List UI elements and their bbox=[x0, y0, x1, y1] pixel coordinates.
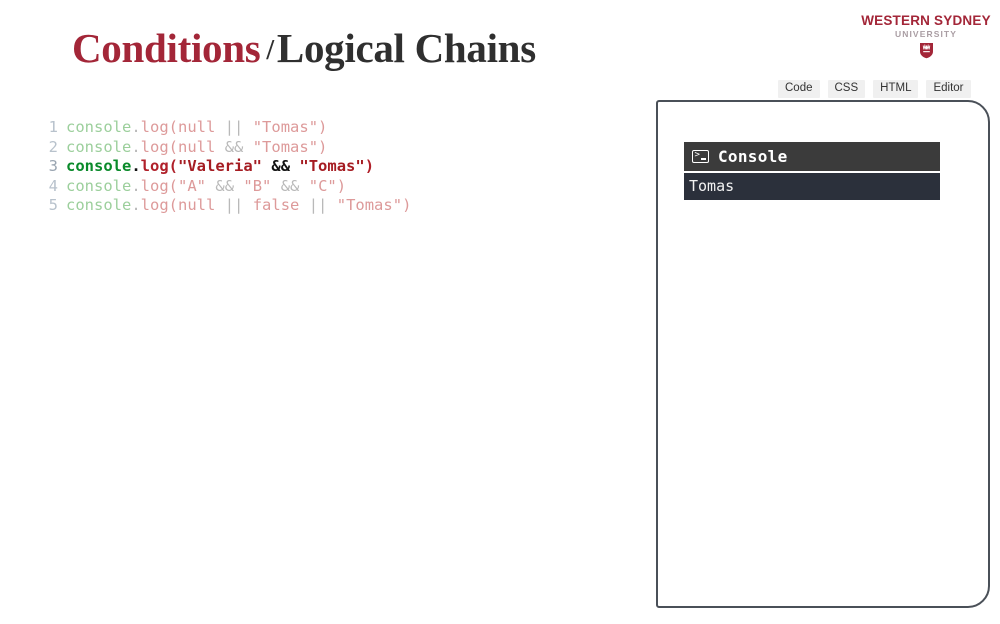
code-token: ) bbox=[402, 196, 411, 214]
code-token: "B" bbox=[243, 177, 271, 195]
tab-code[interactable]: Code bbox=[778, 80, 820, 98]
tab-css[interactable]: CSS bbox=[828, 80, 866, 98]
preview-tab-bar: Code CSS HTML Editor bbox=[778, 80, 971, 98]
code-line: 3console.log("Valeria" && "Tomas") bbox=[48, 157, 411, 177]
code-token: console bbox=[66, 118, 131, 136]
code-token bbox=[215, 196, 224, 214]
code-token bbox=[234, 177, 243, 195]
code-token: "Tomas" bbox=[337, 196, 402, 214]
code-token: ) bbox=[337, 177, 346, 195]
code-token bbox=[290, 157, 299, 175]
code-token: "C" bbox=[309, 177, 337, 195]
page-title-primary: Conditions bbox=[72, 25, 260, 71]
code-token bbox=[327, 196, 336, 214]
code-token: log bbox=[141, 177, 169, 195]
code-token: console bbox=[66, 196, 131, 214]
code-line-number: 3 bbox=[48, 157, 58, 177]
code-token: || bbox=[225, 196, 244, 214]
preview-panel: Console Tomas bbox=[656, 100, 990, 608]
code-token bbox=[299, 196, 308, 214]
code-token: log bbox=[141, 118, 169, 136]
code-token: ( bbox=[169, 138, 178, 156]
code-token bbox=[215, 138, 224, 156]
code-line: 5console.log(null || false || "Tomas") bbox=[48, 196, 411, 216]
code-token: "Valeria" bbox=[178, 157, 262, 175]
code-token: ) bbox=[318, 118, 327, 136]
code-line: 1console.log(null || "Tomas") bbox=[48, 118, 411, 138]
university-logo: WESTERN SYDNEY UNIVERSITY bbox=[860, 14, 992, 63]
code-token bbox=[262, 157, 271, 175]
terminal-icon bbox=[692, 150, 709, 163]
tab-editor[interactable]: Editor bbox=[926, 80, 970, 98]
code-token bbox=[271, 177, 280, 195]
console-header-label: Console bbox=[718, 147, 788, 166]
code-token: "Tomas" bbox=[253, 138, 318, 156]
code-line-number: 5 bbox=[48, 196, 58, 216]
code-line: 4console.log("A" && "B" && "C") bbox=[48, 177, 411, 197]
shield-crest-icon bbox=[919, 42, 934, 63]
code-token: "Tomas" bbox=[253, 118, 318, 136]
code-token: ( bbox=[169, 196, 178, 214]
code-line: 2console.log(null && "Tomas") bbox=[48, 138, 411, 158]
code-token bbox=[243, 138, 252, 156]
code-token: "A" bbox=[178, 177, 206, 195]
code-token: && bbox=[215, 177, 234, 195]
code-line-number: 2 bbox=[48, 138, 58, 158]
code-token: ( bbox=[169, 118, 178, 136]
code-token: && bbox=[271, 157, 290, 175]
code-token bbox=[299, 177, 308, 195]
page-title-secondary: Logical Chains bbox=[277, 25, 536, 71]
code-token: . bbox=[131, 157, 140, 175]
code-token: . bbox=[131, 177, 140, 195]
console-output-row: Tomas bbox=[684, 173, 940, 200]
console-header: Console bbox=[684, 142, 940, 171]
code-token: console bbox=[66, 177, 131, 195]
code-line-number: 1 bbox=[48, 118, 58, 138]
code-listing: 1console.log(null || "Tomas")2console.lo… bbox=[48, 118, 411, 216]
code-token: "Tomas" bbox=[299, 157, 364, 175]
code-token: null bbox=[178, 118, 215, 136]
code-token: . bbox=[131, 138, 140, 156]
code-token: ( bbox=[169, 177, 178, 195]
page-title-separator: / bbox=[260, 35, 276, 66]
code-token bbox=[243, 196, 252, 214]
console-output-text: Tomas bbox=[689, 178, 734, 195]
code-token: console bbox=[66, 157, 131, 175]
code-line-number: 4 bbox=[48, 177, 58, 197]
code-token: || bbox=[309, 196, 328, 214]
code-token: null bbox=[178, 196, 215, 214]
tab-html[interactable]: HTML bbox=[873, 80, 918, 98]
code-token: && bbox=[225, 138, 244, 156]
code-token: log bbox=[141, 196, 169, 214]
code-token bbox=[243, 118, 252, 136]
code-token: log bbox=[141, 138, 169, 156]
code-token: ) bbox=[318, 138, 327, 156]
code-token: . bbox=[131, 118, 140, 136]
code-token bbox=[206, 177, 215, 195]
code-token: null bbox=[178, 138, 215, 156]
code-token: console bbox=[66, 138, 131, 156]
code-token: false bbox=[253, 196, 300, 214]
code-token: log bbox=[141, 157, 169, 175]
page-title: Conditions/Logical Chains bbox=[72, 24, 536, 73]
code-token bbox=[215, 118, 224, 136]
code-token: ) bbox=[365, 157, 374, 175]
code-token: && bbox=[281, 177, 300, 195]
logo-line-primary: WESTERN SYDNEY bbox=[860, 14, 992, 28]
logo-line-secondary: UNIVERSITY bbox=[860, 30, 992, 39]
code-token: || bbox=[225, 118, 244, 136]
code-token: . bbox=[131, 196, 140, 214]
code-token: ( bbox=[169, 157, 178, 175]
